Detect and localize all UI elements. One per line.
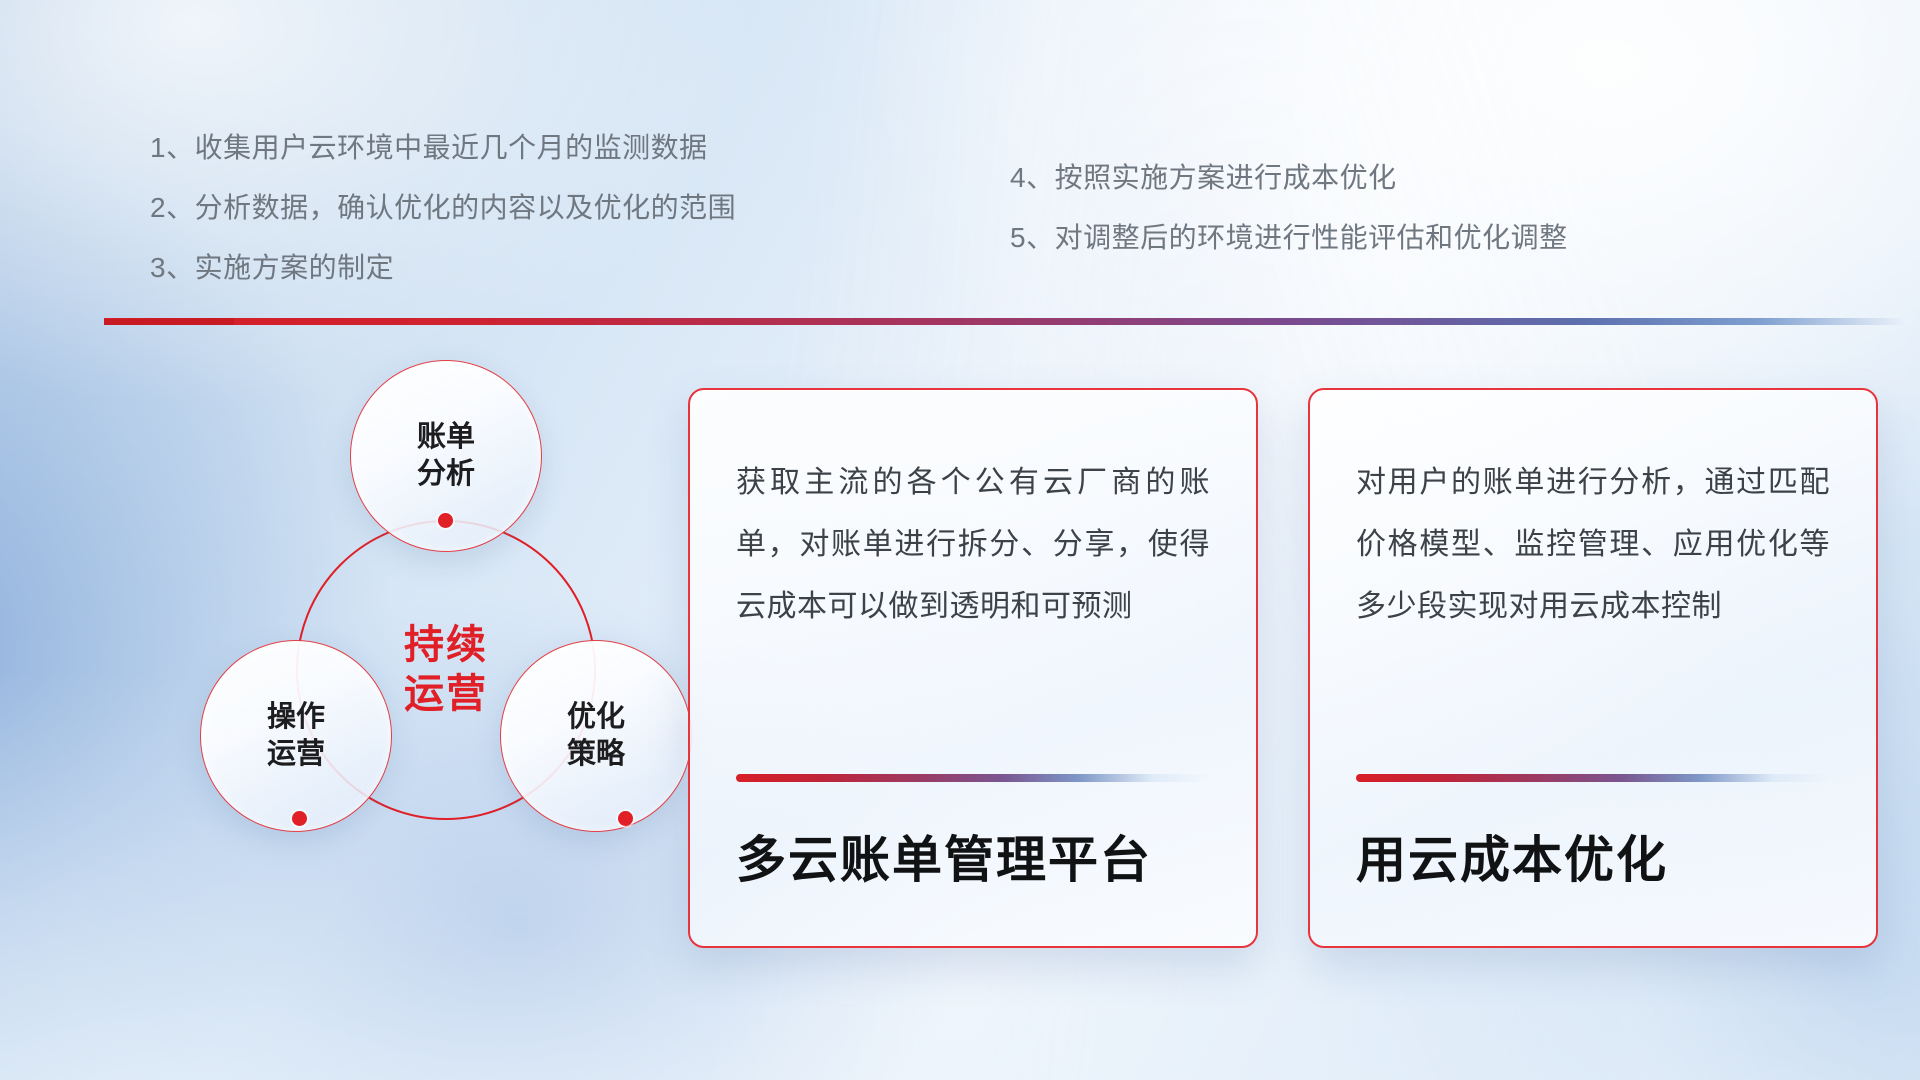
center-label-line-2: 运营 [404, 670, 488, 719]
continuous-operation-diagram: 持续 运营 账单 分析 操作 运营 优化 策略 [100, 350, 660, 940]
card-cloud-cost-optimization[interactable]: 对用户的账单进行分析，通过匹配价格模型、监控管理、应用优化等多少段实现对用云成本… [1308, 388, 1878, 948]
bubble-optimization-strategy[interactable]: 优化 策略 [500, 640, 692, 832]
connector-node-bottom-right-icon [618, 811, 633, 826]
bubble-optimization-strategy-line-1: 优化 [567, 699, 625, 736]
card-2-title: 用云成本优化 [1356, 782, 1830, 946]
bubble-optimization-strategy-line-2: 策略 [567, 736, 625, 773]
bubble-bill-analysis-line-2: 分析 [417, 456, 475, 493]
step-item-2: 2、分析数据，确认优化的内容以及优化的范围 [150, 186, 736, 226]
card-1-title: 多云账单管理平台 [736, 782, 1210, 946]
bubble-operation[interactable]: 操作 运营 [200, 640, 392, 832]
card-1-body-text: 获取主流的各个公有云厂商的账单，对账单进行拆分、分享，使得云成本可以做到透明和可… [736, 452, 1210, 637]
card-1-accent-rule [736, 774, 1210, 782]
connector-node-bottom-left-icon [292, 811, 307, 826]
card-2-body-text: 对用户的账单进行分析，通过匹配价格模型、监控管理、应用优化等多少段实现对用云成本… [1356, 452, 1830, 637]
center-label-line-1: 持续 [404, 621, 488, 670]
step-item-5: 5、对调整后的环境进行性能评估和优化调整 [1010, 216, 1568, 256]
connector-node-top-icon [438, 513, 453, 528]
bubble-operation-line-2: 运营 [267, 736, 325, 773]
step-item-1: 1、收集用户云环境中最近几个月的监测数据 [150, 126, 708, 166]
bubble-operation-line-1: 操作 [267, 699, 325, 736]
section-divider [104, 318, 1904, 325]
card-multicloud-bill-platform[interactable]: 获取主流的各个公有云厂商的账单，对账单进行拆分、分享，使得云成本可以做到透明和可… [688, 388, 1258, 948]
bubble-bill-analysis-line-1: 账单 [417, 419, 475, 456]
step-item-3: 3、实施方案的制定 [150, 246, 394, 286]
card-2-accent-rule [1356, 774, 1830, 782]
step-item-4: 4、按照实施方案进行成本优化 [1010, 156, 1397, 196]
